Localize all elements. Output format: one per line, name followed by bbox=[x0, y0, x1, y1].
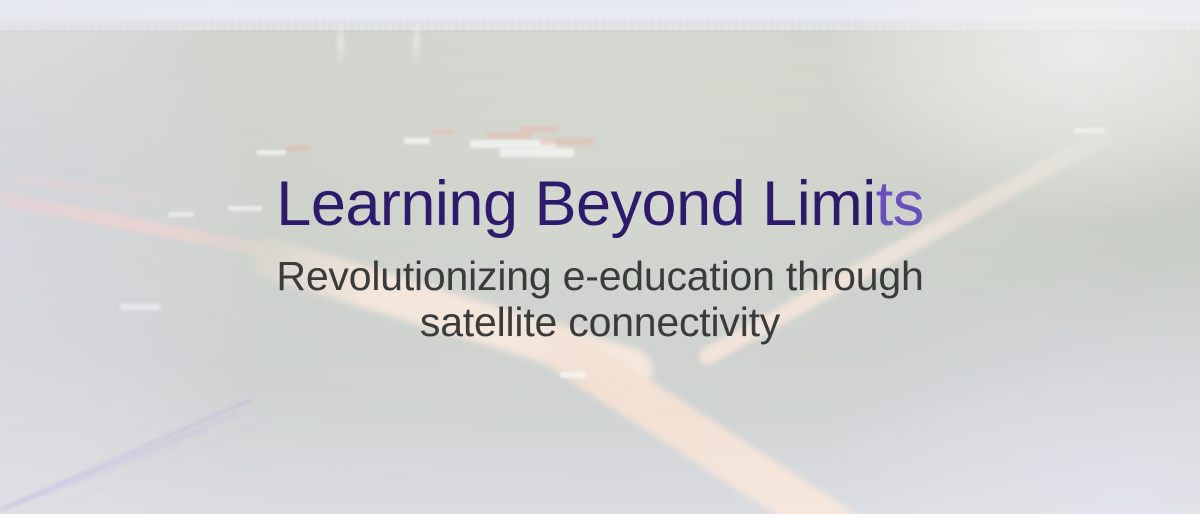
page-title-accent-tail: ts bbox=[876, 169, 924, 239]
slide-canvas: Learning Beyond Limits Revolutionizing e… bbox=[0, 0, 1200, 514]
page-title-lead: Learning Beyond Limi bbox=[276, 169, 875, 239]
title-block: Learning Beyond Limits Revolutionizing e… bbox=[0, 0, 1200, 514]
page-subtitle: Revolutionizing e-education through sate… bbox=[230, 254, 970, 346]
page-title: Learning Beyond Limits bbox=[276, 172, 923, 236]
